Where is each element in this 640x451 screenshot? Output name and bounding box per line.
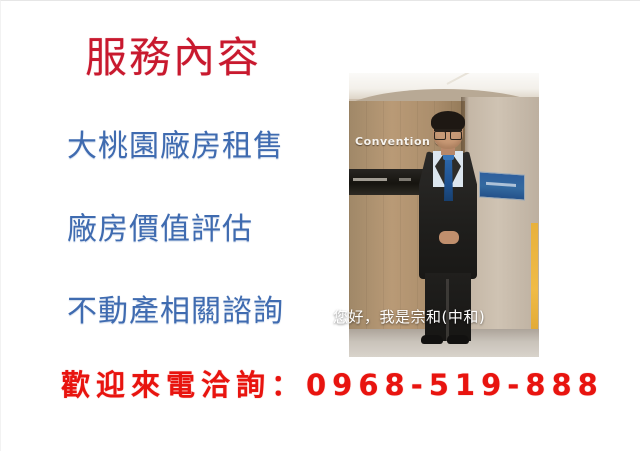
person-glasses	[434, 129, 462, 139]
person-shoe-right	[447, 335, 469, 344]
service-item-2: 廠房價值評估	[67, 213, 253, 248]
photo-caption: 您好，我是宗和(中和)	[333, 306, 485, 327]
person-necktie	[444, 153, 453, 201]
person-shoe-left	[421, 335, 443, 344]
photo-blue-plaque	[479, 171, 525, 200]
page-title: 服務內容	[85, 34, 261, 81]
service-item-3: 不動產相關諮詢	[67, 295, 284, 330]
contact-phone-line: 歡迎來電洽詢：0968-519-888	[61, 370, 604, 402]
person-hands	[439, 231, 459, 244]
service-item-1: 大桃園廠房租售	[67, 130, 284, 165]
slide-canvas: 服務內容 大桃園廠房租售 廠房價值評估 不動產相關諮詢 歡迎來電洽詢：0968-…	[0, 0, 640, 451]
